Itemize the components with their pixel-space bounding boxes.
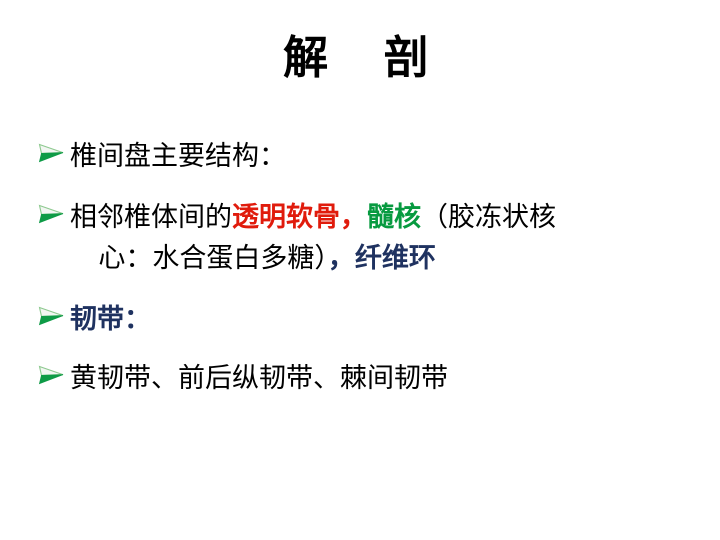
text-run-black: 相邻椎体间的 [70, 202, 232, 233]
text-line: 相邻椎体间的透明软骨，髓核（胶冻状核 [70, 202, 556, 233]
text-run-black: （胶冻状核 [421, 202, 556, 233]
list-item-text: 椎间盘主要结构： [70, 136, 698, 177]
text-run-navy: 韧带： [70, 304, 151, 335]
bullet-marker [38, 142, 70, 176]
text-line: 韧带： [70, 304, 151, 335]
list-item[interactable]: 相邻椎体间的透明软骨，髓核（胶冻状核心：水合蛋白多糖），纤维环 [38, 197, 698, 279]
text-run-black: 黄韧带、前后纵韧带、棘间韧带 [70, 363, 448, 394]
text-line: 椎间盘主要结构： [70, 141, 286, 172]
text-run-green: 髓核 [367, 202, 421, 233]
bullet-marker [38, 305, 70, 339]
text-line: 心：水合蛋白多糖），纤维环 [70, 238, 698, 279]
green-arrow-bullet-icon [38, 305, 66, 327]
text-run-navy: ， [328, 243, 355, 274]
bullet-list: 椎间盘主要结构：相邻椎体间的透明软骨，髓核（胶冻状核心：水合蛋白多糖），纤维环韧… [38, 136, 698, 419]
list-item[interactable]: 黄韧带、前后纵韧带、棘间韧带 [38, 358, 698, 399]
green-arrow-bullet-icon [38, 142, 66, 164]
list-item-text: 黄韧带、前后纵韧带、棘间韧带 [70, 358, 698, 399]
green-arrow-bullet-icon [38, 203, 66, 225]
text-run-navy: 纤维环 [355, 243, 436, 274]
list-item-text: 韧带： [70, 299, 698, 340]
list-item[interactable]: 韧带： [38, 299, 698, 340]
slide-canvas: 解 剖 椎间盘主要结构：相邻椎体间的透明软骨，髓核（胶冻状核心：水合蛋白多糖），… [0, 0, 720, 540]
text-line: 黄韧带、前后纵韧带、棘间韧带 [70, 363, 448, 394]
list-item[interactable]: 椎间盘主要结构： [38, 136, 698, 177]
text-run-black: 椎间盘主要结构： [70, 141, 286, 172]
bullet-marker [38, 203, 70, 237]
text-run-black: 心：水合蛋白多糖） [98, 243, 328, 274]
list-item-text: 相邻椎体间的透明软骨，髓核（胶冻状核心：水合蛋白多糖），纤维环 [70, 197, 698, 279]
bullet-marker [38, 364, 70, 398]
text-run-red: 透明软骨 [232, 202, 340, 233]
green-arrow-bullet-icon [38, 364, 66, 386]
text-run-red: ， [340, 202, 367, 233]
page-title: 解 剖 [0, 30, 720, 86]
